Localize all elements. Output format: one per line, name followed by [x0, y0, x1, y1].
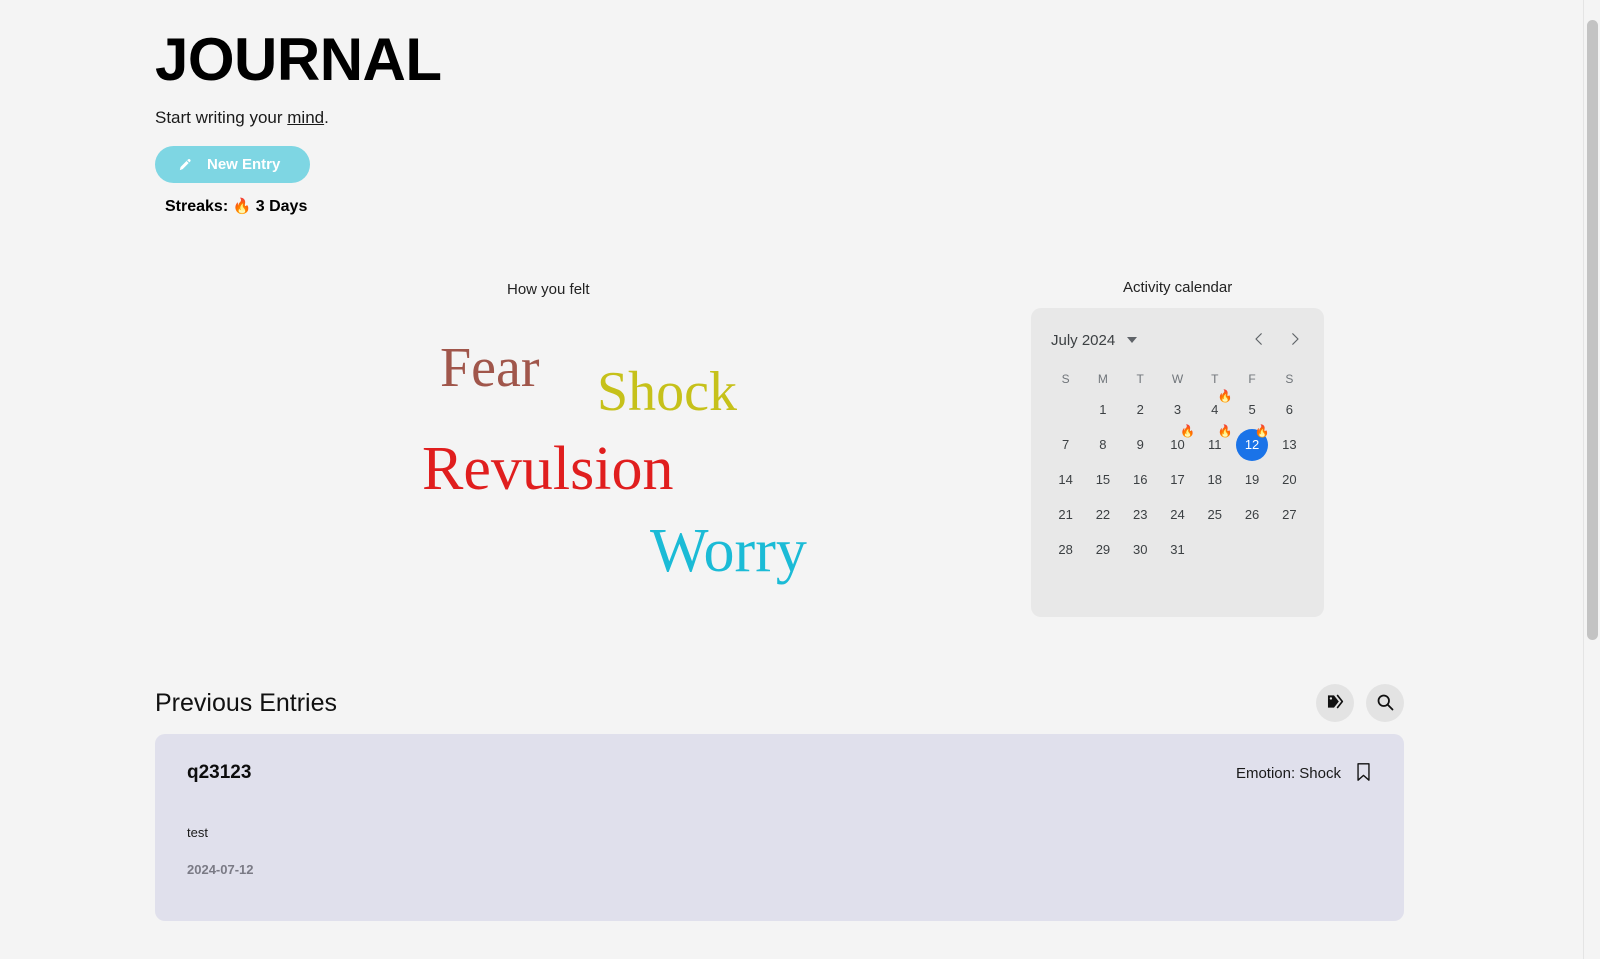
streaks-label: Streaks: — [165, 198, 228, 215]
wordcloud-word-shock[interactable]: Shock — [597, 364, 737, 420]
calendar-next-month-button[interactable] — [1282, 327, 1308, 353]
subtitle-text-before: Start writing your — [155, 108, 287, 127]
calendar-day-11[interactable]: 🔥11 — [1196, 427, 1233, 462]
calendar-day-number: 31 — [1162, 535, 1192, 565]
calendar-day-13[interactable]: 13 — [1271, 427, 1308, 462]
entry-card[interactable]: q23123 Emotion: Shock test 2024-07-12 — [155, 734, 1404, 921]
calendar-day-number: 15 — [1088, 465, 1118, 495]
subtitle-text-after: . — [324, 108, 329, 127]
calendar-weekday-2: T — [1122, 366, 1159, 392]
scrollbar-thumb[interactable] — [1587, 20, 1598, 640]
calendar-day-number: 16 — [1125, 465, 1155, 495]
calendar-day-number: 28 — [1051, 535, 1081, 565]
pencil-icon — [177, 156, 194, 173]
calendar-day-2[interactable]: 2 — [1122, 392, 1159, 427]
calendar-day-number: 4 — [1200, 395, 1230, 425]
calendar-day-number: 30 — [1125, 535, 1155, 565]
calendar-weekday-1: M — [1084, 366, 1121, 392]
wordcloud-label: How you felt — [507, 281, 590, 298]
calendar-day-23[interactable]: 23 — [1122, 497, 1159, 532]
calendar-day-blank — [1047, 392, 1084, 427]
calendar-weekday-4: T — [1196, 366, 1233, 392]
calendar-weekday-5: F — [1233, 366, 1270, 392]
calendar-day-20[interactable]: 20 — [1271, 462, 1308, 497]
calendar-weekday-6: S — [1271, 366, 1308, 392]
flame-icon: 🔥 — [233, 198, 252, 215]
calendar-day-number: 21 — [1051, 500, 1081, 530]
calendar-weekday-3: W — [1159, 366, 1196, 392]
calendar-day-29[interactable]: 29 — [1084, 532, 1121, 567]
calendar-day-number: 12 — [1236, 429, 1268, 461]
entry-meta: Emotion: Shock — [1236, 762, 1372, 785]
chevron-down-icon — [1127, 337, 1137, 343]
entry-bookmark-button[interactable] — [1355, 762, 1372, 785]
entry-emotion-label: Emotion: Shock — [1236, 765, 1341, 782]
calendar-day-4[interactable]: 🔥4 — [1196, 392, 1233, 427]
calendar-day-number: 27 — [1274, 500, 1304, 530]
tags-filter-button[interactable] — [1316, 684, 1354, 722]
journal-page: JOURNAL Start writing your mind. New Ent… — [0, 0, 1600, 959]
calendar-month-label: July 2024 — [1051, 332, 1115, 349]
calendar-day-number: 17 — [1162, 465, 1192, 495]
calendar-day-number: 23 — [1125, 500, 1155, 530]
calendar-day-26[interactable]: 26 — [1233, 497, 1270, 532]
calendar-day-number: 22 — [1088, 500, 1118, 530]
wordcloud-word-fear[interactable]: Fear — [440, 340, 540, 396]
emotion-wordcloud: Fear Shock Revulsion Worry — [400, 320, 920, 610]
calendar-day-number: 2 — [1125, 395, 1155, 425]
calendar-day-number: 14 — [1051, 465, 1081, 495]
activity-calendar-label: Activity calendar — [1123, 279, 1232, 296]
calendar-day-number: 18 — [1200, 465, 1230, 495]
entry-body: test — [187, 825, 1372, 840]
calendar-day-number: 20 — [1274, 465, 1304, 495]
calendar-day-24[interactable]: 24 — [1159, 497, 1196, 532]
entry-card-top-row: q23123 Emotion: Shock — [187, 762, 1372, 785]
calendar-day-28[interactable]: 28 — [1047, 532, 1084, 567]
wordcloud-word-worry[interactable]: Worry — [650, 520, 807, 582]
calendar-day-31[interactable]: 31 — [1159, 532, 1196, 567]
calendar-day-19[interactable]: 19 — [1233, 462, 1270, 497]
calendar-day-5[interactable]: 5 — [1233, 392, 1270, 427]
calendar-day-25[interactable]: 25 — [1196, 497, 1233, 532]
calendar-day-27[interactable]: 27 — [1271, 497, 1308, 532]
previous-entries-header: Previous Entries — [155, 684, 1404, 722]
calendar-day-30[interactable]: 30 — [1122, 532, 1159, 567]
calendar-day-22[interactable]: 22 — [1084, 497, 1121, 532]
entry-date: 2024-07-12 — [187, 862, 1372, 877]
calendar-day-7[interactable]: 7 — [1047, 427, 1084, 462]
calendar-day-17[interactable]: 17 — [1159, 462, 1196, 497]
streaks-value: 3 Days — [256, 198, 308, 215]
calendar-day-6[interactable]: 6 — [1271, 392, 1308, 427]
calendar-day-8[interactable]: 8 — [1084, 427, 1121, 462]
search-entries-button[interactable] — [1366, 684, 1404, 722]
new-entry-label: New Entry — [207, 156, 280, 173]
subtitle-underlined-word: mind — [287, 108, 324, 127]
tags-icon — [1326, 692, 1345, 714]
calendar-day-number: 29 — [1088, 535, 1118, 565]
calendar-nav — [1246, 327, 1308, 353]
calendar-weekday-0: S — [1047, 366, 1084, 392]
calendar-day-number: 9 — [1125, 430, 1155, 460]
calendar-day-number: 11 — [1200, 430, 1230, 460]
calendar-day-10[interactable]: 🔥10 — [1159, 427, 1196, 462]
calendar-day-3[interactable]: 3 — [1159, 392, 1196, 427]
vertical-scrollbar[interactable] — [1583, 0, 1600, 959]
calendar-day-15[interactable]: 15 — [1084, 462, 1121, 497]
calendar-day-number: 7 — [1051, 430, 1081, 460]
page-subtitle: Start writing your mind. — [155, 108, 442, 128]
bookmark-icon — [1355, 762, 1372, 785]
calendar-day-number: 26 — [1237, 500, 1267, 530]
calendar-day-number: 24 — [1162, 500, 1192, 530]
chevron-left-icon — [1250, 330, 1268, 351]
chevron-right-icon — [1286, 330, 1304, 351]
previous-entries-title: Previous Entries — [155, 689, 337, 718]
activity-calendar: July 2024 — [1031, 308, 1324, 617]
calendar-day-number: 5 — [1237, 395, 1267, 425]
calendar-day-1[interactable]: 1 — [1084, 392, 1121, 427]
search-icon — [1375, 692, 1395, 715]
calendar-header: July 2024 — [1047, 326, 1308, 354]
entry-title: q23123 — [187, 762, 251, 784]
calendar-day-number: 3 — [1162, 395, 1192, 425]
previous-entries-actions — [1316, 684, 1404, 722]
calendar-day-number: 25 — [1200, 500, 1230, 530]
calendar-day-number: 1 — [1088, 395, 1118, 425]
calendar-day-18[interactable]: 18 — [1196, 462, 1233, 497]
calendar-day-number: 8 — [1088, 430, 1118, 460]
calendar-day-16[interactable]: 16 — [1122, 462, 1159, 497]
streaks-indicator: Streaks: 🔥 3 Days — [165, 197, 442, 216]
calendar-day-number: 10 — [1162, 430, 1192, 460]
calendar-month-selector[interactable]: July 2024 — [1047, 332, 1137, 349]
new-entry-button[interactable]: New Entry — [155, 146, 310, 183]
calendar-day-14[interactable]: 14 — [1047, 462, 1084, 497]
calendar-prev-month-button[interactable] — [1246, 327, 1272, 353]
calendar-grid: SMTWTFS123🔥456789🔥10🔥11🔥1213141516171819… — [1047, 366, 1308, 567]
calendar-day-21[interactable]: 21 — [1047, 497, 1084, 532]
header: JOURNAL Start writing your mind. New Ent… — [155, 30, 442, 216]
page-title: JOURNAL — [155, 30, 442, 90]
calendar-day-9[interactable]: 9 — [1122, 427, 1159, 462]
calendar-day-12[interactable]: 🔥12 — [1233, 427, 1270, 462]
calendar-day-number: 13 — [1274, 430, 1304, 460]
wordcloud-word-revulsion[interactable]: Revulsion — [422, 438, 673, 500]
calendar-day-number: 6 — [1274, 395, 1304, 425]
calendar-day-number: 19 — [1237, 465, 1267, 495]
